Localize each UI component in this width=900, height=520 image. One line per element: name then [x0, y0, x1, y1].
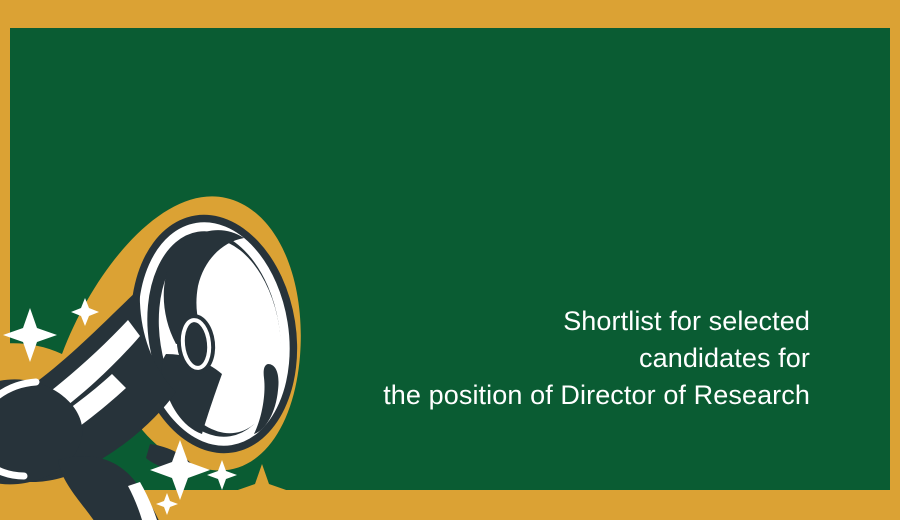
headline-line-1: Shortlist for selected	[330, 303, 810, 340]
headline-line-2: candidates for	[330, 340, 810, 377]
page-title: Shortlist for selected candidates for th…	[330, 303, 810, 414]
headline-line-3: the position of Director of Research	[330, 377, 810, 414]
megaphone-icon	[0, 168, 320, 520]
announcement-banner: Shortlist for selected candidates for th…	[0, 0, 900, 520]
